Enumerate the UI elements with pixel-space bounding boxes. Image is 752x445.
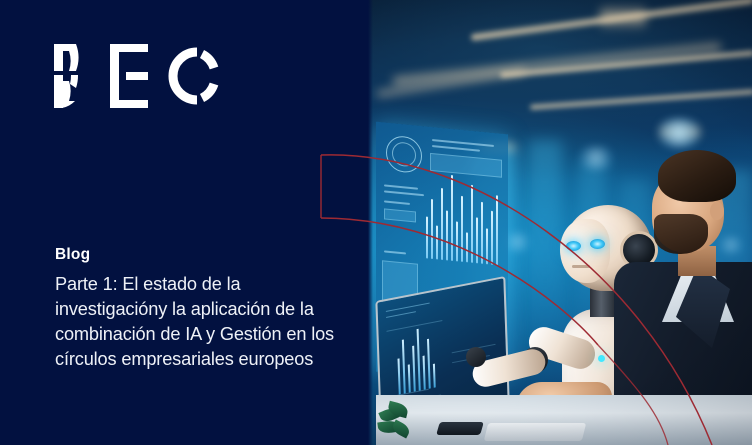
logo-letter-e [110,44,148,108]
blog-banner: Blog Parte 1: El estado de la investigac… [0,0,752,445]
dec-logo[interactable] [54,44,226,108]
kicker-label: Blog [55,246,90,264]
logo-letter-c [173,52,214,100]
logo-letter-d [54,44,78,108]
page-title: Parte 1: El estado de la investigacióny … [55,272,343,372]
panel-edge-fade [368,0,373,445]
